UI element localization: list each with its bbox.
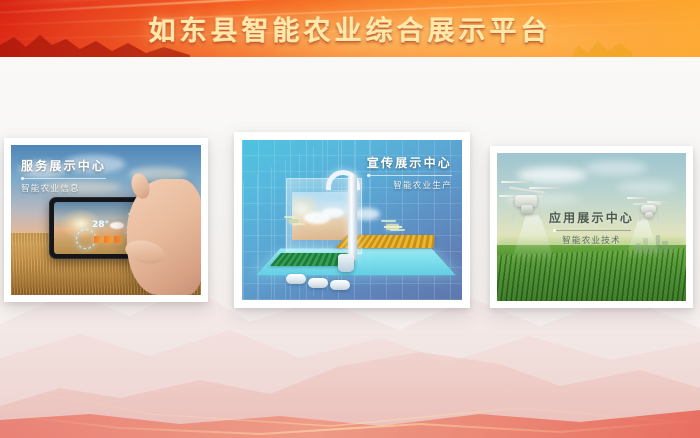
iso-water-tank bbox=[338, 254, 354, 272]
iso-hay-roll bbox=[286, 274, 306, 284]
iso-arch-pole bbox=[348, 174, 357, 260]
caption-divider bbox=[553, 230, 631, 231]
cloud-shape bbox=[585, 161, 647, 175]
card-service-center-caption: 服务展示中心 智能农业信息 bbox=[21, 157, 106, 194]
card-title: 宣传展示中心 bbox=[367, 154, 452, 171]
card-application-center-image: 应用展示中心 智能农业技术 bbox=[497, 153, 686, 301]
iso-hay-roll bbox=[308, 278, 328, 288]
phone-temperature: 28° bbox=[92, 220, 109, 230]
caption-divider bbox=[21, 178, 106, 179]
card-title: 服务展示中心 bbox=[21, 157, 106, 174]
card-service-center-image: 28° bbox=[11, 145, 201, 295]
card-application-center-caption: 应用展示中心 智能农业技术 bbox=[497, 209, 686, 246]
card-title: 应用展示中心 bbox=[497, 209, 686, 226]
hud-chip bbox=[94, 236, 102, 243]
hud-ring-left-icon bbox=[76, 229, 96, 249]
header-banner: 如东县智能农业综合展示平台 bbox=[0, 0, 700, 57]
page-title: 如东县智能农业综合展示平台 bbox=[0, 0, 700, 57]
card-promotion-center[interactable]: 宣传展示中心 智能农业生产 bbox=[234, 132, 470, 308]
hud-chip bbox=[114, 236, 122, 243]
hud-chip bbox=[104, 236, 112, 243]
iso-hay-roll bbox=[330, 280, 350, 290]
card-subtitle: 智能农业信息 bbox=[21, 182, 106, 194]
caption-divider bbox=[367, 175, 452, 176]
cloud-shape bbox=[617, 181, 675, 193]
page-root: 如东县智能农业综合展示平台 28° bbox=[0, 0, 700, 438]
card-promotion-center-caption: 宣传展示中心 智能农业生产 bbox=[367, 154, 452, 191]
card-subtitle: 智能农业技术 bbox=[497, 234, 686, 246]
card-service-center[interactable]: 28° bbox=[4, 138, 208, 302]
weather-cloud-icon bbox=[110, 222, 124, 229]
card-subtitle: 智能农业生产 bbox=[367, 179, 452, 191]
card-application-center[interactable]: 应用展示中心 智能农业技术 bbox=[490, 146, 693, 308]
card-promotion-center-image: 宣传展示中心 智能农业生产 bbox=[242, 140, 462, 300]
